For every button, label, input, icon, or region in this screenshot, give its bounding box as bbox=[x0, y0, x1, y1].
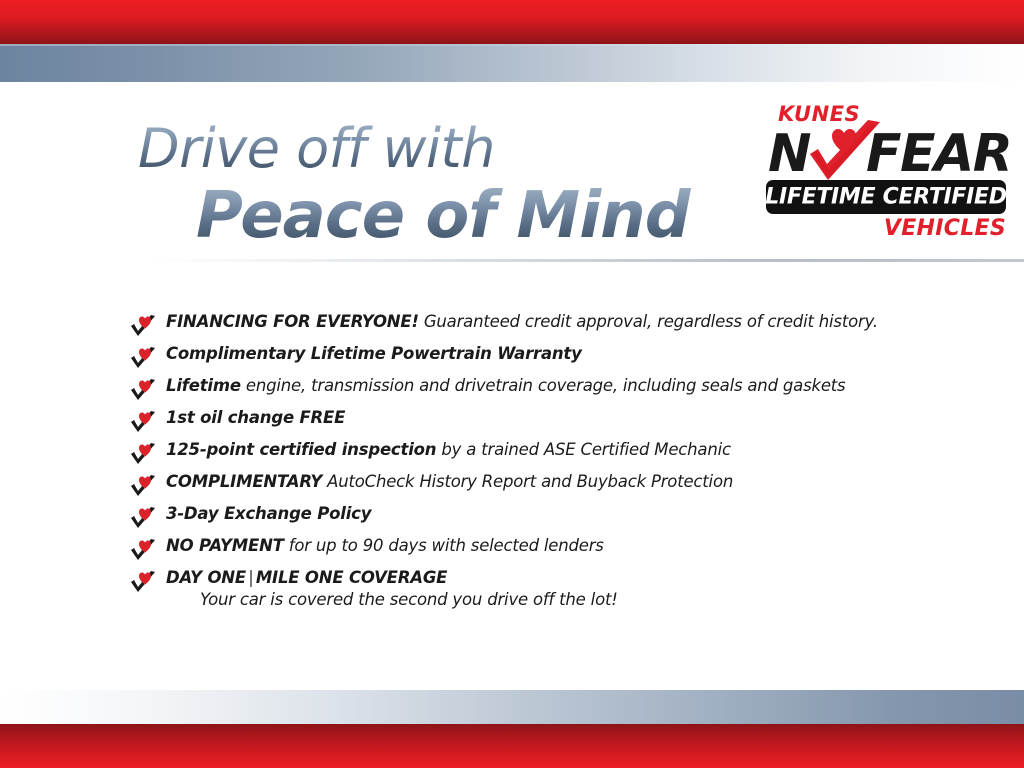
benefit-rest: engine, transmission and drivetrain cove… bbox=[241, 376, 846, 395]
benefit-rest: AutoCheck History Report and Buyback Pro… bbox=[322, 472, 733, 491]
benefit-rest: Guaranteed credit approval, regardless o… bbox=[419, 312, 878, 331]
heart-check-bullet-icon bbox=[130, 539, 156, 561]
benefit-strong: NO PAYMENT bbox=[166, 536, 284, 555]
heart-check-bullet-icon bbox=[130, 411, 156, 433]
list-item: NO PAYMENT for up to 90 days with select… bbox=[130, 535, 960, 567]
list-item-text: 1st oil change FREE bbox=[166, 407, 960, 429]
benefit-strong: Complimentary Lifetime Powertrain Warran… bbox=[166, 344, 582, 363]
list-item: 125-point certified inspection by a trai… bbox=[130, 439, 960, 471]
heart-check-bullet-icon bbox=[130, 475, 156, 497]
list-item-text: Lifetime engine, transmission and drivet… bbox=[166, 375, 960, 397]
benefit-strong: COMPLIMENTARY bbox=[166, 472, 322, 491]
list-item: 1st oil change FREE bbox=[130, 407, 960, 439]
list-item: FINANCING FOR EVERYONE! Guaranteed credi… bbox=[130, 311, 960, 343]
headline-line-2: Peace of Mind bbox=[136, 184, 756, 248]
list-item: DAY ONE|MILE ONE COVERAGE Your car is co… bbox=[130, 567, 960, 621]
bottom-red-band bbox=[0, 724, 1024, 768]
list-item-text: Complimentary Lifetime Powertrain Warran… bbox=[166, 343, 960, 365]
heart-check-bullet-icon bbox=[130, 507, 156, 529]
benefit-separator: | bbox=[246, 568, 256, 587]
list-item: COMPLIMENTARY AutoCheck History Report a… bbox=[130, 471, 960, 503]
heart-check-bullet-icon bbox=[130, 315, 156, 337]
list-item-text: DAY ONE|MILE ONE COVERAGE bbox=[166, 567, 960, 589]
list-item: 3-Day Exchange Policy bbox=[130, 503, 960, 535]
kunes-no-fear-logo: KUNES N FEAR LIFETIME CERTIFIED VEHICLES bbox=[766, 104, 1010, 250]
benefit-strong: FINANCING FOR EVERYONE! bbox=[166, 312, 419, 331]
promotional-poster: Drive off with Peace of Mind KUNES N FEA… bbox=[0, 0, 1024, 768]
benefit-strong: Lifetime bbox=[166, 376, 241, 395]
benefit-strong-day-one: DAY ONE bbox=[166, 568, 246, 587]
heart-check-bullet-icon bbox=[130, 379, 156, 401]
list-item-text: COMPLIMENTARY AutoCheck History Report a… bbox=[166, 471, 960, 493]
benefit-rest: for up to 90 days with selected lenders bbox=[284, 536, 604, 555]
top-red-band bbox=[0, 0, 1024, 44]
headline-divider bbox=[150, 259, 1024, 262]
top-gray-band bbox=[0, 44, 1024, 82]
logo-vehicles-text: VEHICLES bbox=[884, 218, 1006, 240]
benefit-strong-mile-one: MILE ONE COVERAGE bbox=[256, 568, 447, 587]
logo-letters-fear: FEAR bbox=[866, 128, 1011, 180]
list-item: Complimentary Lifetime Powertrain Warran… bbox=[130, 343, 960, 375]
logo-bar-label: LIFETIME CERTIFIED bbox=[766, 185, 1006, 210]
benefit-strong: 3-Day Exchange Policy bbox=[166, 504, 371, 523]
benefit-strong: 125-point certified inspection bbox=[166, 440, 436, 459]
list-item: Lifetime engine, transmission and drivet… bbox=[130, 375, 960, 407]
logo-no-fear-wordmark: N FEAR bbox=[768, 126, 1008, 182]
list-item-subtext: Your car is covered the second you drive… bbox=[166, 589, 960, 611]
headline-block: Drive off with Peace of Mind bbox=[136, 122, 756, 248]
benefit-strong: 1st oil change FREE bbox=[166, 408, 345, 427]
heart-check-bullet-icon bbox=[130, 347, 156, 369]
heart-check-bullet-icon bbox=[130, 443, 156, 465]
list-item-text: FINANCING FOR EVERYONE! Guaranteed credi… bbox=[166, 311, 960, 333]
headline-line-1: Drive off with bbox=[136, 122, 756, 176]
logo-lifetime-certified-bar: LIFETIME CERTIFIED bbox=[766, 180, 1006, 214]
benefits-list: FINANCING FOR EVERYONE! Guaranteed credi… bbox=[130, 311, 960, 621]
heart-check-bullet-icon bbox=[130, 571, 156, 593]
list-item-text: 3-Day Exchange Policy bbox=[166, 503, 960, 525]
bottom-gray-band bbox=[0, 690, 1024, 724]
list-item-text: 125-point certified inspection by a trai… bbox=[166, 439, 960, 461]
benefit-rest: by a trained ASE Certified Mechanic bbox=[436, 440, 731, 459]
list-item-text: NO PAYMENT for up to 90 days with select… bbox=[166, 535, 960, 557]
